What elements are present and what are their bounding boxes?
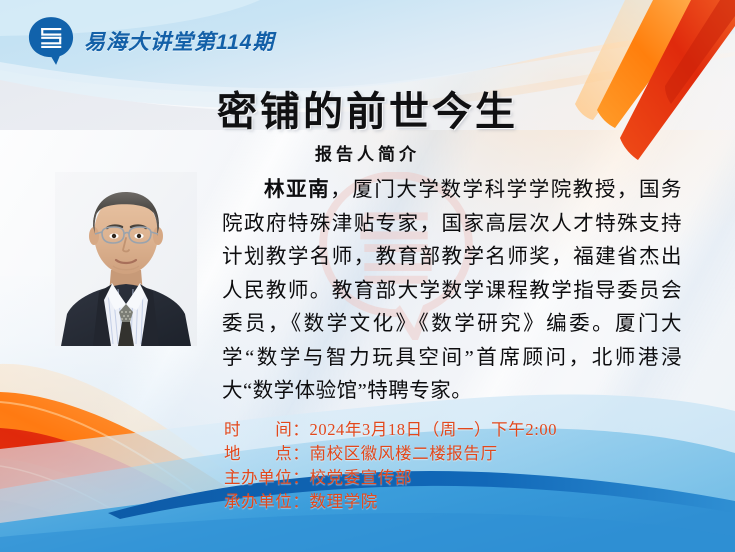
speech-bubble-book-icon <box>28 16 74 66</box>
event-time-label: 时 间： <box>224 420 310 439</box>
page-title: 密铺的前世今生 <box>0 79 735 137</box>
event-place-value: 南校区徽风楼二楼报告厅 <box>310 444 498 463</box>
speaker-name: 林亚南 <box>263 179 330 201</box>
event-host-label: 承办单位： <box>224 492 310 511</box>
lecture-series-title: 易海大讲堂第114期 <box>84 26 274 56</box>
speaker-bio: 林亚南，厦门大学数学科学学院教授，国务院政府特殊津贴专家，国家高层次人才特殊支持… <box>222 174 682 409</box>
event-place-label: 地 点： <box>224 444 310 463</box>
lecture-poster: 易海大讲堂第114期 密铺的前世今生 报告人简介 <box>0 0 735 552</box>
poster-header: 易海大讲堂第114期 <box>28 16 274 66</box>
event-host-row: 承办单位：数理学院 <box>224 490 557 514</box>
event-place-row: 地 点：南校区徽风楼二楼报告厅 <box>224 442 557 466</box>
event-time-row: 时 间：2024年3月18日（周一）下午2:00 <box>224 418 557 442</box>
event-organizer-value: 校党委宣传部 <box>310 468 413 487</box>
event-details: 时 间：2024年3月18日（周一）下午2:00 地 点：南校区徽风楼二楼报告厅… <box>224 418 557 514</box>
section-subtitle: 报告人简介 <box>0 140 735 165</box>
event-organizer-row: 主办单位：校党委宣传部 <box>224 466 557 490</box>
event-time-value: 2024年3月18日（周一）下午2:00 <box>310 420 558 439</box>
speaker-portrait <box>55 172 197 346</box>
speaker-bio-text: ，厦门大学数学科学学院教授，国务院政府特殊津贴专家，国家高层次人才特殊支持计划教… <box>222 179 682 402</box>
event-organizer-label: 主办单位： <box>224 468 310 487</box>
event-host-value: 数理学院 <box>310 492 378 511</box>
